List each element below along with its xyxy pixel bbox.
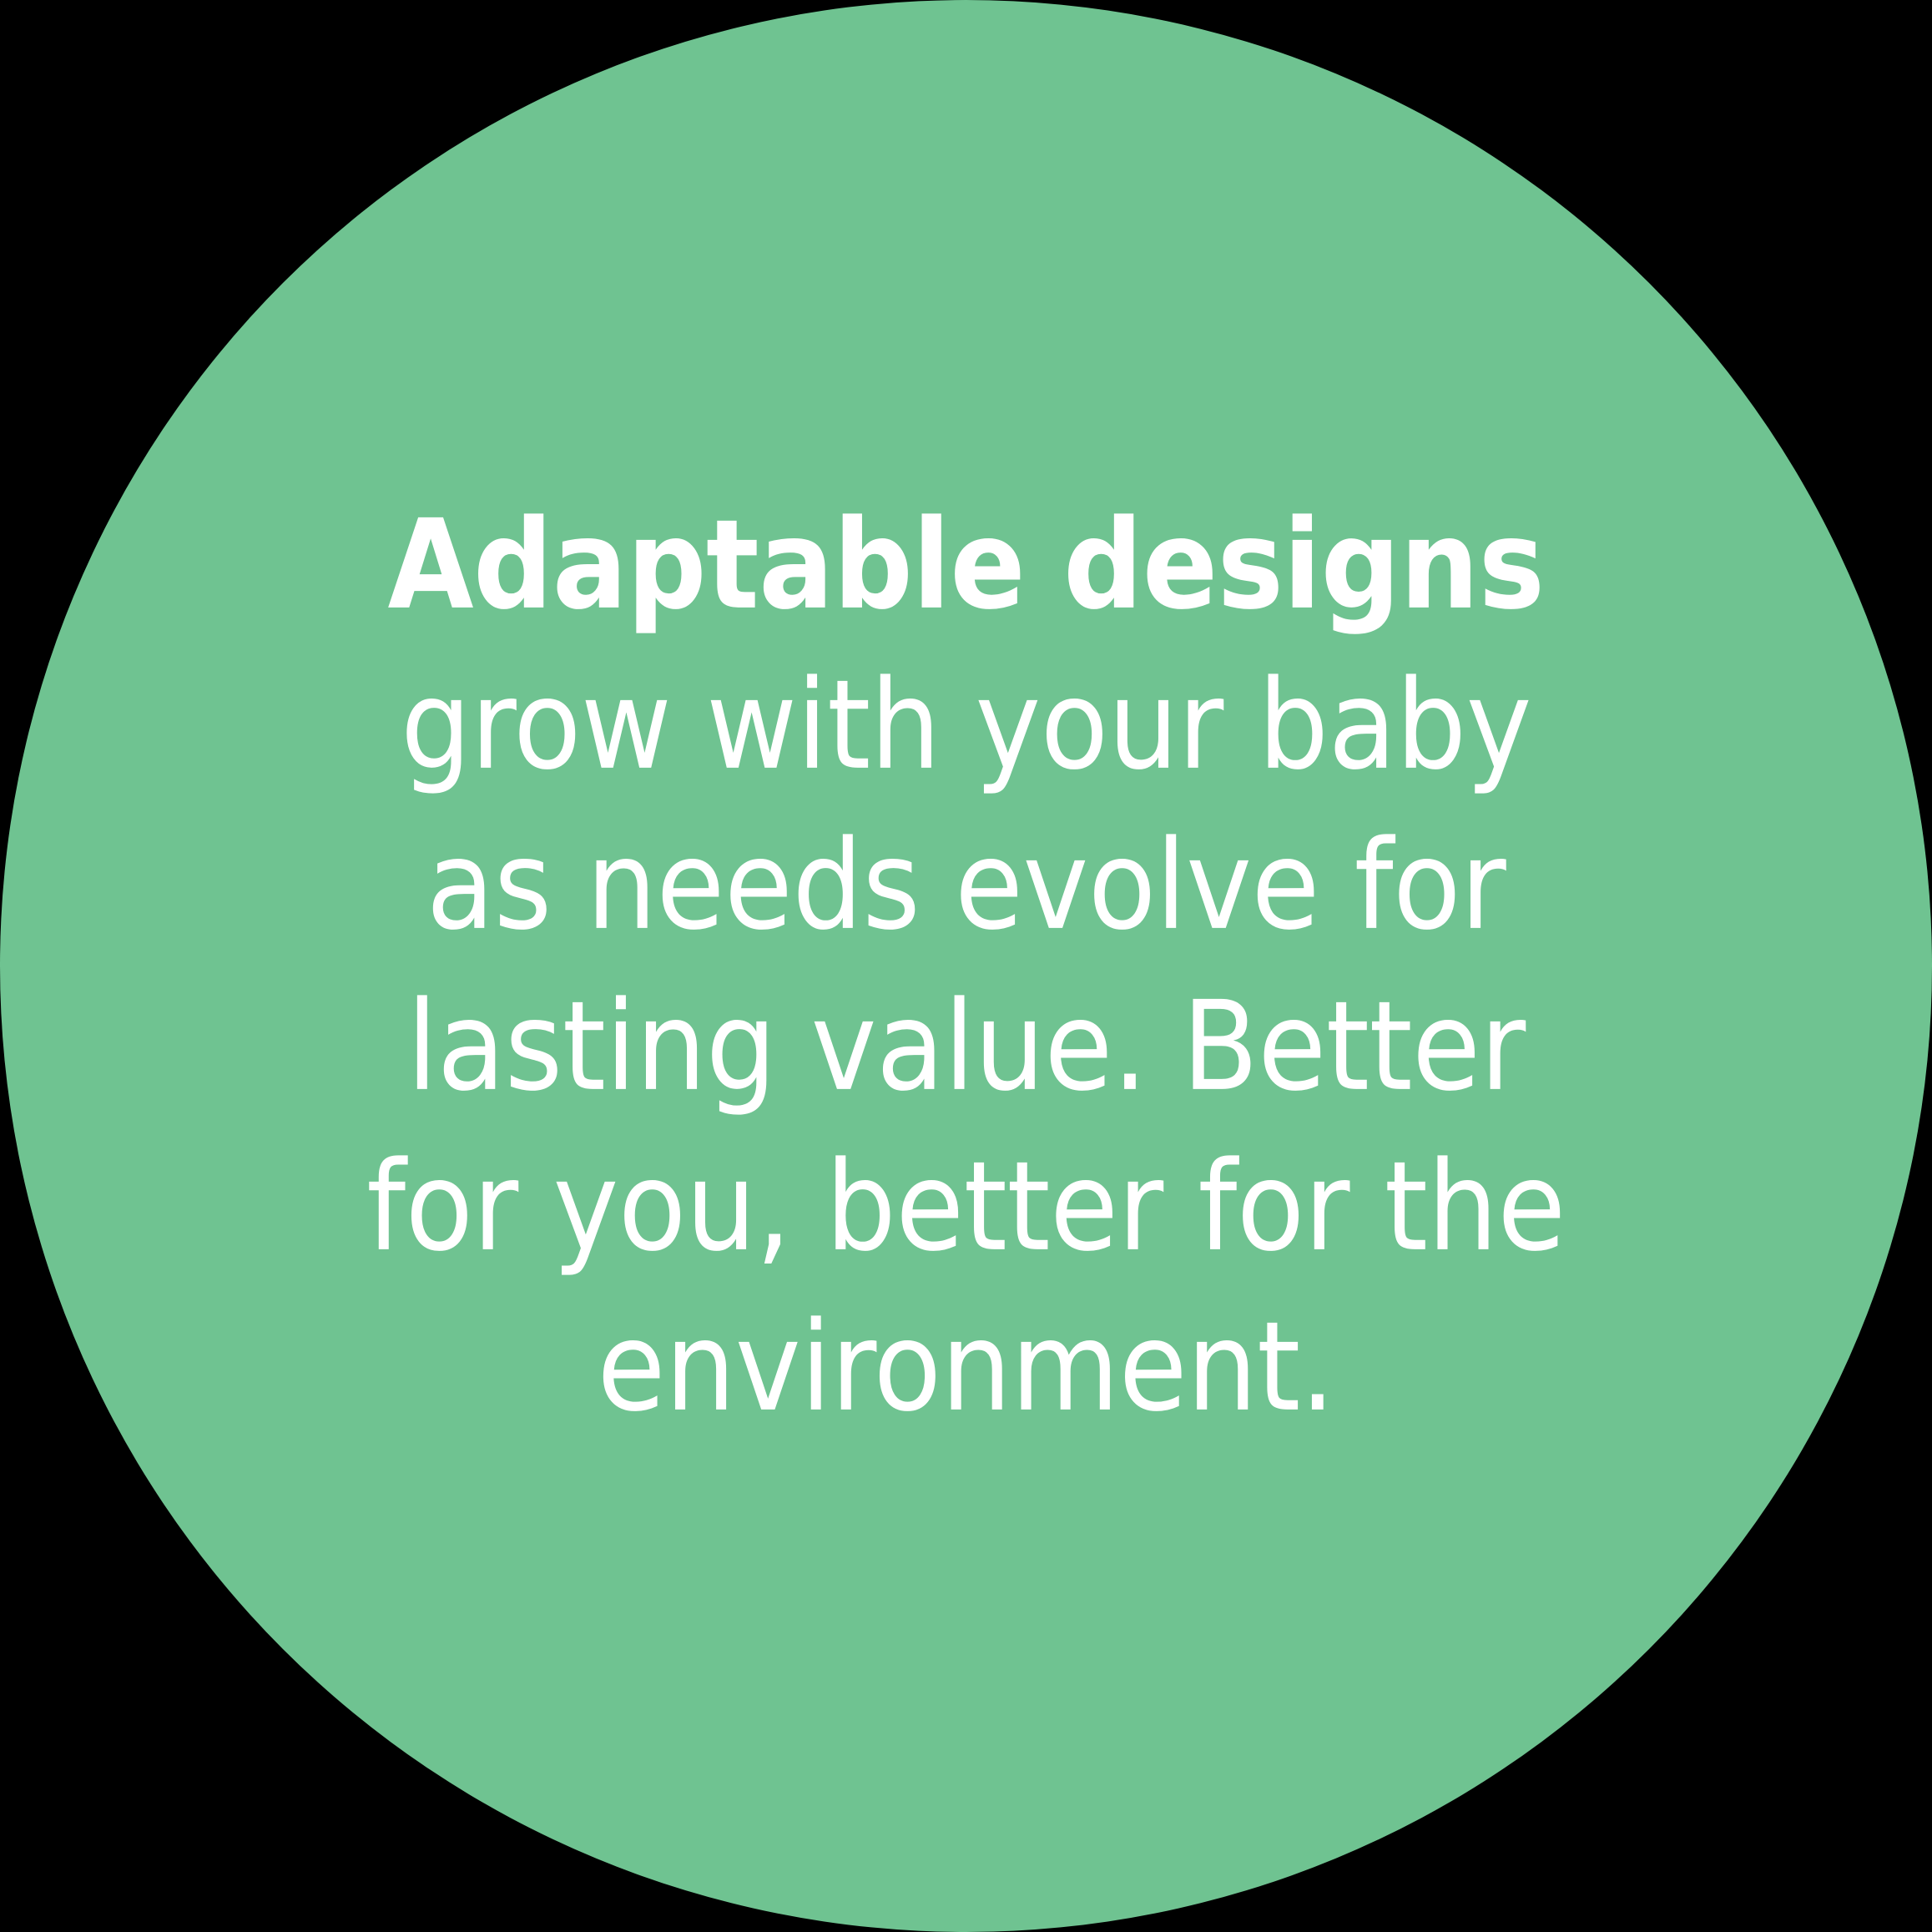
- quote-emphasis-text: Adaptable designs: [387, 492, 1544, 636]
- quote-text-block: Adaptable designs grow with your baby as…: [345, 484, 1588, 1447]
- poster-canvas: Adaptable designs grow with your baby as…: [0, 0, 1932, 1932]
- quote-body-text: grow with your baby as needs evolve for …: [366, 653, 1566, 1440]
